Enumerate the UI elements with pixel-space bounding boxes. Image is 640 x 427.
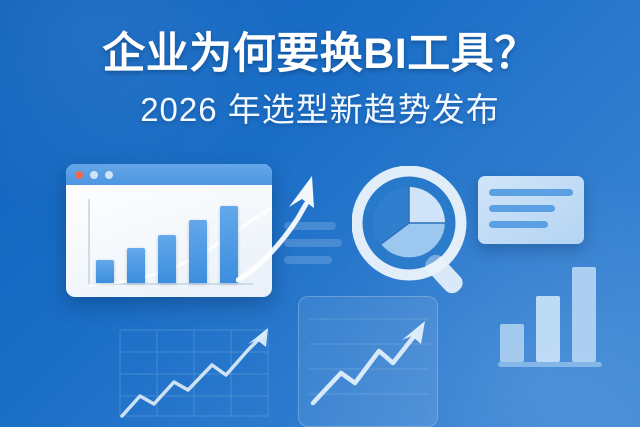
- br-baseline: [498, 362, 602, 367]
- bar-1: [96, 260, 114, 283]
- text-card-illustration: [478, 176, 584, 244]
- bl-grid: [120, 330, 268, 416]
- br-bar-3: [572, 267, 596, 362]
- bl-arrow-head-icon: [248, 328, 268, 347]
- card-text-line-1: [489, 189, 573, 196]
- bar-4: [189, 220, 207, 283]
- page-title: 企业为何要换BI工具？: [0, 28, 640, 80]
- mini-line-2: [284, 239, 342, 247]
- bottom-right-bar-chart: [498, 258, 610, 368]
- pie-chart-group: [373, 187, 445, 259]
- mini-line-1: [284, 222, 336, 230]
- bottom-left-line-chart: [108, 320, 280, 427]
- mini-lines-group: [284, 222, 342, 264]
- page-subtitle: 2026 年选型新趋势发布: [0, 90, 640, 130]
- magnifier-pie-illustration: [352, 166, 480, 298]
- mini-line-3: [284, 256, 332, 264]
- bar-2: [127, 248, 145, 283]
- poster-canvas: 企业为何要换BI工具？ 2026 年选型新趋势发布: [0, 0, 640, 427]
- bc-grid: [309, 319, 429, 394]
- minimize-dot-icon: [90, 171, 98, 179]
- br-bar-2: [536, 296, 560, 362]
- card-text-line-2: [489, 205, 555, 212]
- card-text-line-3: [489, 221, 548, 228]
- bottom-center-card: [298, 296, 438, 427]
- bottom-center-line-chart: [299, 297, 438, 427]
- maximize-dot-icon: [105, 171, 113, 179]
- bar-chart-series: [96, 206, 238, 283]
- bl-trend-line: [122, 334, 264, 416]
- br-bar-1: [500, 324, 524, 362]
- bar-3: [158, 235, 176, 283]
- title-block: 企业为何要换BI工具？ 2026 年选型新趋势发布: [0, 28, 640, 130]
- close-dot-icon: [75, 171, 83, 179]
